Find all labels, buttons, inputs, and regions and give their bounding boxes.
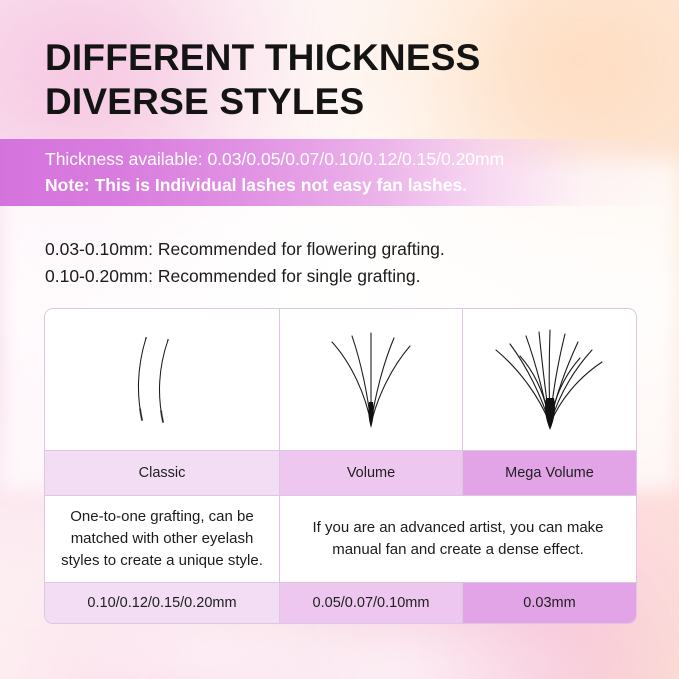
style-label-volume: Volume — [280, 451, 463, 495]
single-lash-icon — [102, 320, 222, 440]
page-title: DIFFERENT THICKNESS DIVERSE STYLES — [45, 36, 480, 123]
table-row-descriptions: One-to-one grafting, can be matched with… — [45, 496, 636, 583]
banner-thickness-text: Thickness available: 0.03/0.05/0.07/0.10… — [45, 149, 504, 170]
banner-note-text: Note: This is Individual lashes not easy… — [45, 175, 467, 196]
description-cell-classic: One-to-one grafting, can be matched with… — [45, 496, 280, 582]
table-row-labels: Classic Volume Mega Volume — [45, 451, 636, 496]
table-row-thickness: 0.10/0.12/0.15/0.20mm 0.05/0.07/0.10mm 0… — [45, 583, 636, 623]
style-label-mega-volume: Mega Volume — [463, 451, 636, 495]
thickness-value-volume: 0.05/0.07/0.10mm — [280, 583, 463, 623]
style-comparison-table: Classic Volume Mega Volume One-to-one gr… — [44, 308, 637, 624]
style-label-classic: Classic — [45, 451, 280, 495]
artwork-cell-mega-volume — [463, 309, 636, 450]
infographic-root: DIFFERENT THICKNESS DIVERSE STYLES Thick… — [0, 0, 679, 679]
recommendation-text: 0.03-0.10mm: Recommended for flowering g… — [45, 236, 445, 290]
thickness-banner: Thickness available: 0.03/0.05/0.07/0.10… — [0, 139, 679, 206]
volume-fan-icon — [306, 320, 436, 440]
thickness-value-mega-volume: 0.03mm — [463, 583, 636, 623]
description-text-classic: One-to-one grafting, can be matched with… — [47, 506, 277, 571]
description-cell-volume-mega: If you are an advanced artist, you can m… — [280, 496, 636, 582]
thickness-value-classic: 0.10/0.12/0.15/0.20mm — [45, 583, 280, 623]
table-row-artwork — [45, 309, 636, 451]
artwork-cell-volume — [280, 309, 463, 450]
artwork-cell-classic — [45, 309, 280, 450]
description-text-volume-mega: If you are an advanced artist, you can m… — [299, 517, 618, 561]
mega-volume-fan-icon — [480, 320, 620, 440]
